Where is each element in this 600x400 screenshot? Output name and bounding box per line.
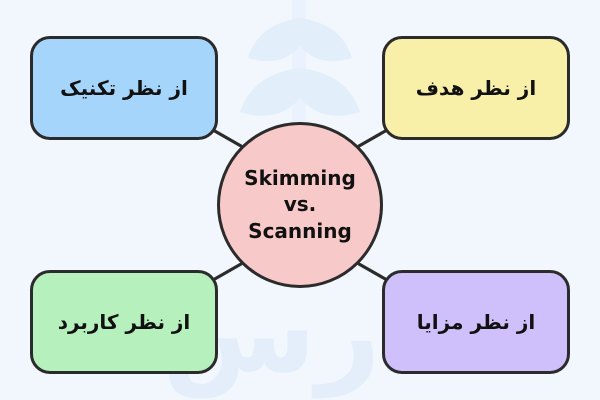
center-node[interactable]: Skimming vs. Scanning: [217, 122, 383, 288]
branch-node-advantages[interactable]: از نظر مزایا: [382, 270, 570, 374]
branch-label-advantages: از نظر مزایا: [405, 310, 547, 334]
branch-label-technique: از نظر تکنیک: [48, 76, 200, 100]
branch-label-goal: از نظر هدف: [404, 76, 548, 100]
branch-node-goal[interactable]: از نظر هدف: [382, 36, 570, 140]
diagram-canvas: درس Skimming vs. Scanning از نظر تکنیک ا…: [0, 0, 600, 400]
branch-node-technique[interactable]: از نظر تکنیک: [30, 36, 218, 140]
branch-node-usage[interactable]: از نظر کاربرد: [30, 270, 218, 374]
branch-label-usage: از نظر کاربرد: [46, 310, 203, 334]
center-node-line-1: Skimming: [244, 167, 356, 191]
center-node-line-3: Scanning: [248, 220, 352, 244]
center-node-line-2: vs.: [284, 193, 317, 217]
